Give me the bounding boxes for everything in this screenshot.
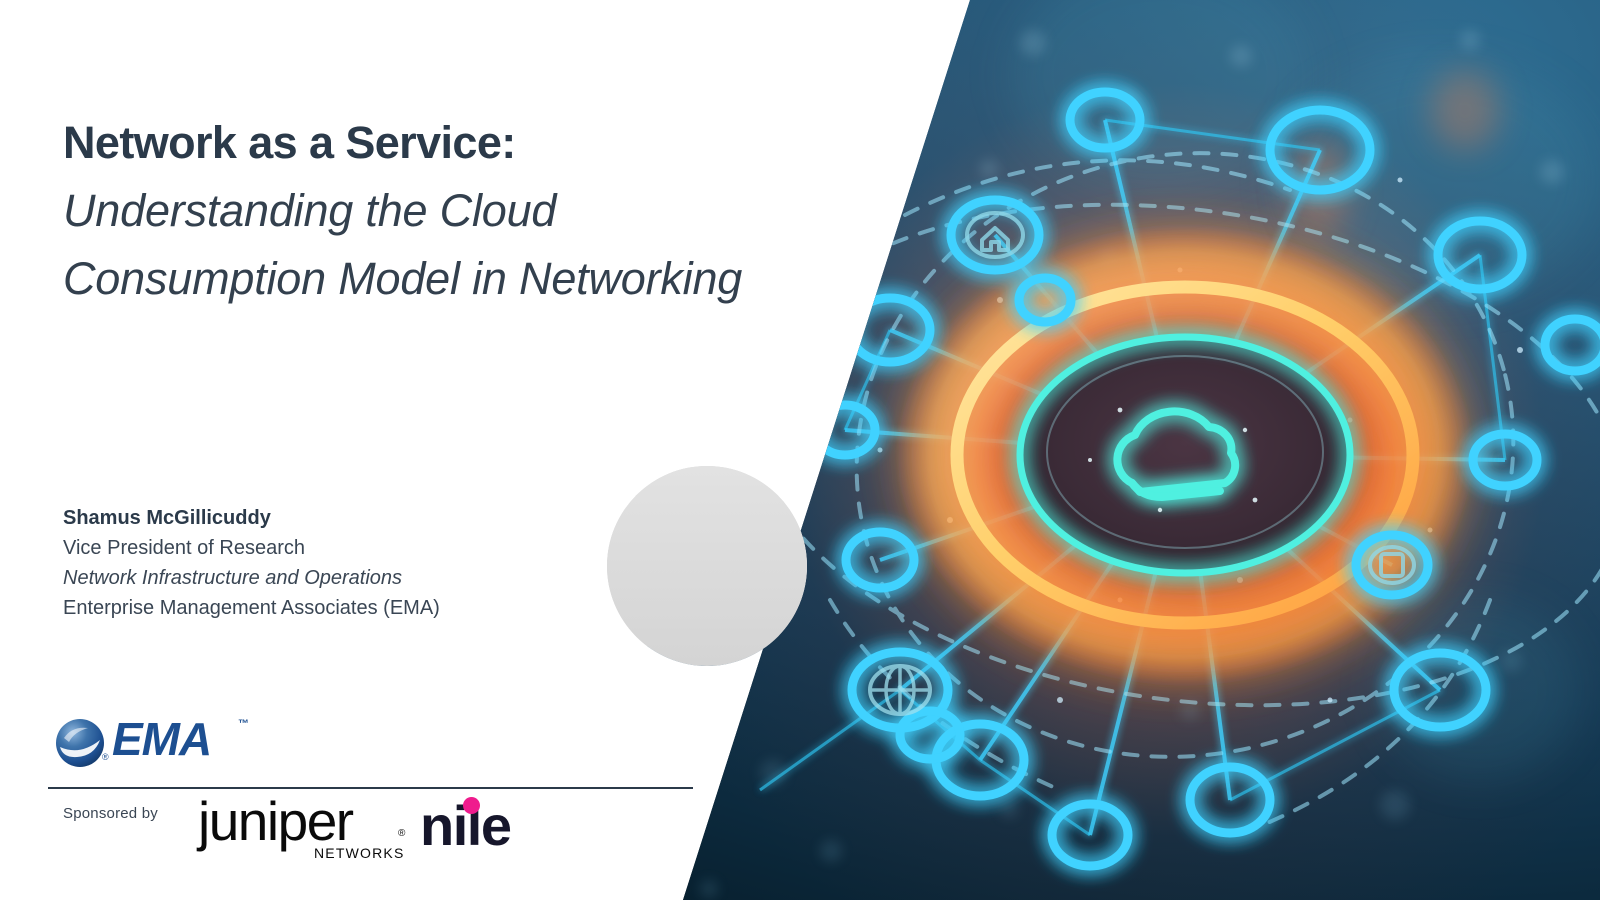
juniper-subtext: NETWORKS bbox=[314, 846, 405, 860]
ema-swoosh-icon bbox=[50, 714, 110, 770]
ring-node bbox=[1545, 319, 1600, 371]
juniper-registered-mark: ® bbox=[398, 828, 405, 839]
speaker-role: Vice President of Research bbox=[63, 533, 440, 563]
sponsor-row: Sponsored by juniper ® NETWORKS nile bbox=[48, 800, 708, 870]
ema-registered-mark: ® bbox=[102, 752, 109, 762]
speaker-name: Shamus McGillicuddy bbox=[63, 503, 440, 533]
juniper-logo: juniper ® NETWORKS bbox=[198, 794, 428, 860]
sponsored-by-label: Sponsored by bbox=[63, 805, 158, 822]
juniper-wordmark: juniper bbox=[198, 794, 353, 849]
ema-logo: EMA ™ ® bbox=[50, 714, 270, 772]
avatar-background bbox=[607, 466, 807, 666]
page-title: Network as a Service: Understanding the … bbox=[63, 120, 763, 314]
globe-icon bbox=[870, 666, 930, 714]
nile-dot-icon bbox=[463, 797, 480, 814]
speaker-organization: Enterprise Management Associates (EMA) bbox=[63, 593, 440, 623]
ema-wordmark: EMA bbox=[112, 716, 211, 762]
title-subtitle: Understanding the Cloud Consumption Mode… bbox=[63, 177, 753, 314]
speaker-department: Network Infrastructure and Operations bbox=[63, 563, 440, 593]
avatar bbox=[607, 466, 807, 666]
title-main: Network as a Service: bbox=[63, 120, 763, 165]
speaker-block: Shamus McGillicuddy Vice President of Re… bbox=[63, 503, 440, 623]
slide-content: Network as a Service: Understanding the … bbox=[0, 0, 700, 900]
section-divider bbox=[48, 787, 693, 789]
ema-trademark: ™ bbox=[238, 718, 249, 730]
presentation-title-slide: Network as a Service: Understanding the … bbox=[0, 0, 1600, 900]
nile-logo: nile bbox=[420, 798, 550, 860]
